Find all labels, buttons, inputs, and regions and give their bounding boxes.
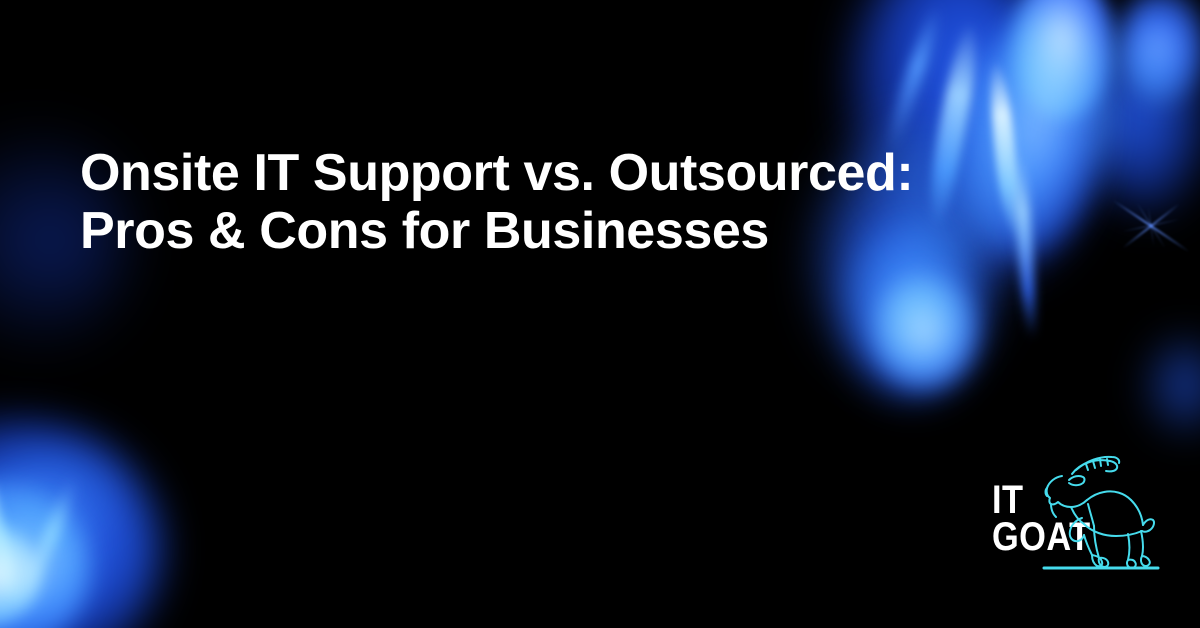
sparkle-ray [1136, 203, 1166, 249]
blue-plume-highlight [870, 272, 980, 392]
blue-star-sparkle-icon [1150, 225, 1152, 227]
it-goat-logo[interactable]: IT GOAT [992, 452, 1158, 576]
brush-stroke [0, 430, 26, 609]
brush-stroke [881, 1, 946, 158]
sparkle-ray [1112, 199, 1189, 252]
sparkle-ray [1122, 203, 1180, 249]
sparkle-ray [1122, 219, 1181, 233]
blue-plume-shape [1090, 16, 1200, 216]
blue-plume-highlight [1010, 0, 1115, 120]
brush-stroke [12, 473, 81, 617]
goat-outline-icon [1042, 452, 1160, 576]
sparkle-ray [1148, 206, 1155, 246]
blue-splash-shape [0, 420, 160, 628]
banner-canvas: Onsite IT Support vs. Outsourced: Pros &… [0, 0, 1200, 628]
blue-splash-highlight [0, 520, 40, 628]
blue-plume-shape [1140, 330, 1200, 440]
page-title: Onsite IT Support vs. Outsourced: Pros &… [80, 144, 1040, 260]
blue-splash-shape [0, 432, 130, 552]
blue-splash-shape [0, 480, 90, 628]
blue-plume-shape [1118, 0, 1200, 106]
